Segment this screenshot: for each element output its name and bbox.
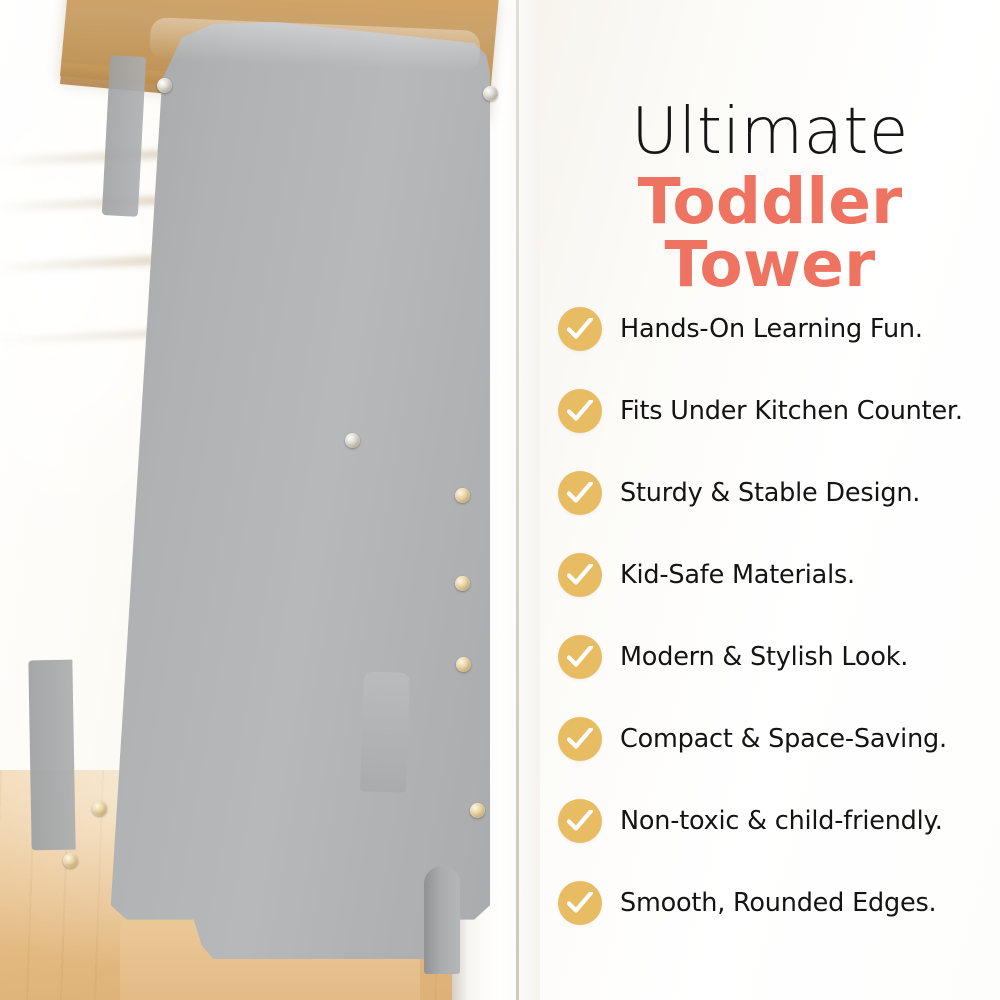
feature-label: Kid-Safe Materials. bbox=[620, 560, 855, 590]
screw-icon bbox=[157, 78, 172, 93]
feature-label: Compact & Space-Saving. bbox=[620, 724, 947, 754]
check-icon bbox=[558, 881, 602, 925]
screw-icon bbox=[456, 657, 471, 672]
feature-label: Modern & Stylish Look. bbox=[620, 642, 908, 672]
headline-line-1: Ultimate bbox=[540, 100, 1000, 164]
screw-icon bbox=[455, 576, 470, 591]
check-icon bbox=[558, 307, 602, 351]
product-photo bbox=[0, 0, 540, 1000]
list-item: Modern & Stylish Look. bbox=[540, 616, 1000, 698]
feature-label: Fits Under Kitchen Counter. bbox=[620, 396, 963, 426]
feature-label: Hands-On Learning Fun. bbox=[620, 314, 923, 344]
list-item: Sturdy & Stable Design. bbox=[540, 452, 1000, 534]
check-icon bbox=[558, 471, 602, 515]
headline-line-2: Toddler Tower bbox=[540, 170, 1000, 296]
feature-label: Non-toxic & child-friendly. bbox=[620, 806, 943, 836]
screw-icon bbox=[92, 801, 107, 816]
tower-side-panel bbox=[95, 22, 490, 982]
feature-label: Smooth, Rounded Edges. bbox=[620, 888, 936, 918]
screw-icon bbox=[63, 853, 78, 868]
check-icon bbox=[558, 717, 602, 761]
check-icon bbox=[558, 389, 602, 433]
list-item: Non-toxic & child-friendly. bbox=[540, 780, 1000, 862]
list-item: Hands-On Learning Fun. bbox=[540, 288, 1000, 370]
list-item: Smooth, Rounded Edges. bbox=[540, 862, 1000, 944]
list-item: Fits Under Kitchen Counter. bbox=[540, 370, 1000, 452]
tower-support-bracket bbox=[360, 671, 410, 793]
page-title: Ultimate Toddler Tower bbox=[540, 100, 1000, 296]
check-icon bbox=[558, 635, 602, 679]
tower-foot-stabiliser bbox=[424, 866, 460, 974]
feature-list: Hands-On Learning Fun. Fits Under Kitche… bbox=[540, 288, 1000, 944]
toddler-tower bbox=[0, 0, 540, 1000]
screw-icon bbox=[470, 803, 485, 818]
tower-upper-left-tab bbox=[102, 55, 146, 217]
product-marketing-poster: Ultimate Toddler Tower Hands-On Learning… bbox=[0, 0, 1000, 1000]
list-item: Compact & Space-Saving. bbox=[540, 698, 1000, 780]
screw-icon bbox=[483, 86, 498, 101]
feature-label: Sturdy & Stable Design. bbox=[620, 478, 920, 508]
check-icon bbox=[558, 799, 602, 843]
tower-left-tab bbox=[28, 660, 75, 851]
screw-icon bbox=[345, 433, 360, 448]
check-icon bbox=[558, 553, 602, 597]
list-item: Kid-Safe Materials. bbox=[540, 534, 1000, 616]
screw-icon bbox=[455, 488, 470, 503]
